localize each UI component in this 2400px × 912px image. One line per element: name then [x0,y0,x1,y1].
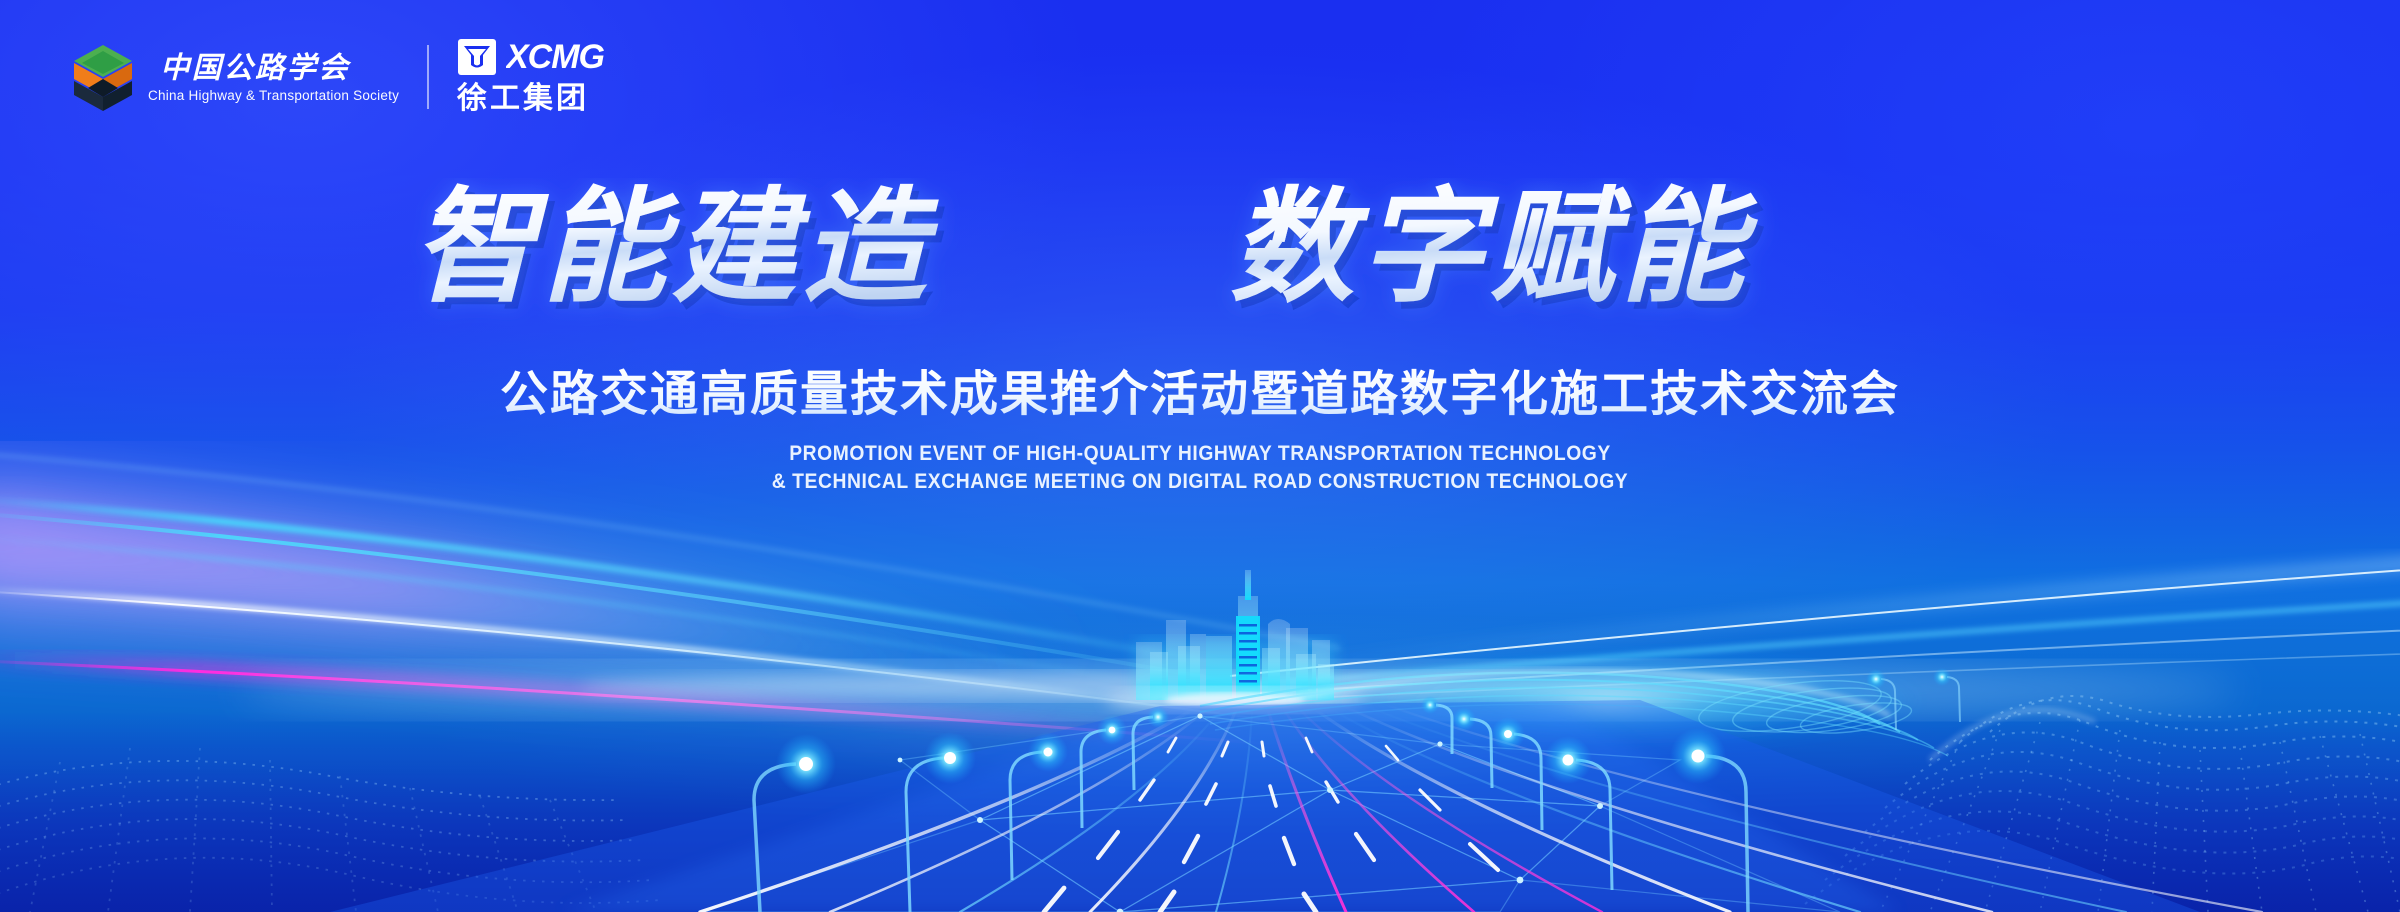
horizon-glow [0,600,2400,850]
subtitle-graphic: 公路交通高质量技术成果推介活动暨道路数字化施工技术交流会 [310,362,2090,426]
xcmg-logo[interactable]: XCMG 徐工集团 [457,38,656,115]
xcmg-wordmark-row: XCMG [457,38,656,76]
event-banner: 中国公路学会 China Highway & Transportation So… [0,0,2400,912]
svg-text:公路交通高质量技术成果推介活动暨道路数字化施工技术交流会: 公路交通高质量技术成果推介活动暨道路数字化施工技术交流会 [500,368,1900,421]
xcmg-name-cn: 徐工集团 [457,81,617,115]
xcmg-diamond-icon [457,38,497,76]
english-line-2: & TECHNICAL EXCHANGE MEETING ON DIGITAL … [96,470,2304,494]
svg-text:智能建造: 智能建造 [412,179,939,317]
light-streaks-right [1230,560,2400,700]
society-logo[interactable]: 中国公路学会 China Highway & Transportation So… [72,43,399,111]
logo-divider [427,45,429,109]
logo-bar: 中国公路学会 China Highway & Transportation So… [72,38,656,115]
bottom-shade [0,582,2400,912]
horizon-band [240,664,2240,716]
society-text-block: 中国公路学会 China Highway & Transportation So… [148,51,399,103]
cube-logo [72,43,134,111]
light-streaks-left [0,452,1340,760]
svg-text:徐工集团: 徐工集团 [457,81,589,115]
xcmg-wordmark: XCMG [506,39,656,75]
digital-highway [330,700,2262,912]
english-line-1: PROMOTION EVENT OF HIGH-QUALITY HIGHWAY … [96,442,2304,466]
society-name-en: China Highway & Transportation Society [148,88,399,103]
city-skyline-graphic [1105,570,1365,712]
headline: 智能建造 数字赋能 [0,178,2400,333]
highway-swirl [1200,652,1948,756]
svg-text:数字赋能: 数字赋能 [1230,179,1758,317]
subtitle: 公路交通高质量技术成果推介活动暨道路数字化施工技术交流会 [0,362,2400,431]
svg-text:中国公路学会: 中国公路学会 [160,51,351,84]
headline-graphic: 智能建造 数字赋能 [400,178,2000,328]
street-lamps [754,668,1960,912]
svg-text:XCMG: XCMG [506,39,605,75]
society-name-cn: 中国公路学会 [148,51,399,85]
particle-wave-right [1805,696,2400,912]
particle-wave-left [0,748,660,912]
